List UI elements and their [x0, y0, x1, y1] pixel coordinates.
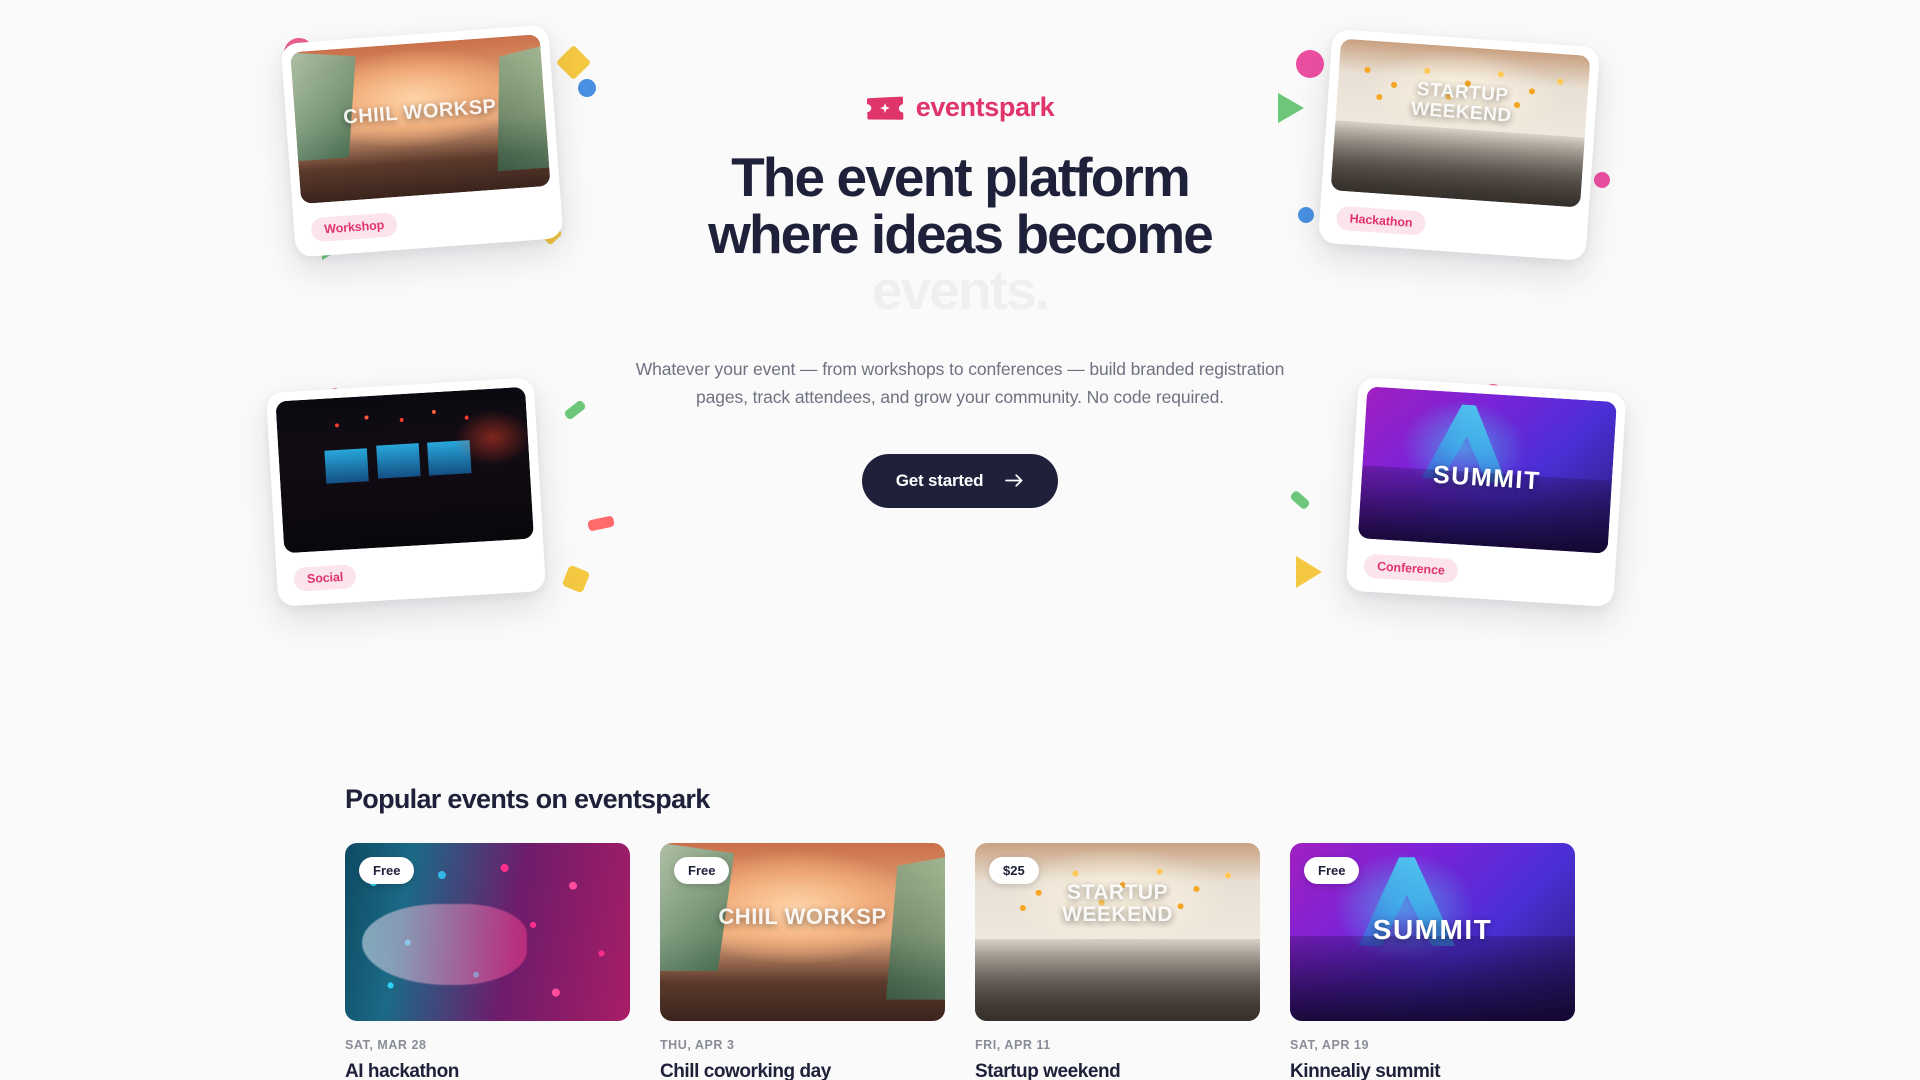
hero-section: CHIIL WORKSP Workshop STARTUP WEEKEND Ha… [0, 0, 1920, 700]
floating-card-workshop[interactable]: CHIIL WORKSP Workshop [281, 24, 564, 257]
event-date: FRI, APR 11 [975, 1038, 1260, 1052]
price-badge: Free [1304, 857, 1359, 884]
floating-card-hackathon[interactable]: STARTUP WEEKEND Hackathon [1318, 29, 1600, 261]
event-title: Kinnealiy summit [1290, 1061, 1575, 1080]
floating-card-thumb [275, 387, 534, 554]
event-grid: Free SAT, MAR 28 AI hackathon Free CHIIL… [345, 843, 1575, 1080]
event-card[interactable]: Free CHIIL WORKSP THU, APR 3 Chill cowor… [660, 843, 945, 1080]
price-badge: Free [674, 857, 729, 884]
event-card[interactable]: Free SUMMIT SAT, APR 19 Kinnealiy summit [1290, 843, 1575, 1080]
popular-events-section: Popular events on eventspark Free SAT, M… [0, 700, 1920, 1080]
event-thumbnail: Free SUMMIT [1290, 843, 1575, 1021]
category-badge: Conference [1363, 553, 1458, 583]
event-thumbnail: Free CHIIL WORKSP [660, 843, 945, 1021]
category-badge: Social [293, 564, 357, 592]
price-badge: $25 [989, 857, 1039, 884]
event-card[interactable]: $25 STARTUP WEEKEND FRI, APR 11 Startup … [975, 843, 1260, 1080]
confetti-rect-yellow-1 [562, 565, 591, 594]
floating-card-thumb: CHIIL WORKSP [290, 34, 550, 204]
confetti-circle-pink-3 [1594, 172, 1610, 188]
event-title: Startup weekend [975, 1061, 1260, 1080]
event-date: THU, APR 3 [660, 1038, 945, 1052]
category-badge: Hackathon [1336, 205, 1426, 235]
floating-card-thumb: SUMMIT [1358, 386, 1617, 553]
floating-card-conference[interactable]: SUMMIT Conference [1346, 377, 1627, 607]
hero-content: eventspark The event platform where idea… [610, 92, 1310, 508]
confetti-rect-green-1 [563, 399, 586, 420]
floating-card-social[interactable]: Social [266, 377, 546, 607]
confetti-rect-red-1 [587, 515, 615, 531]
confetti-circle-blue-1 [578, 79, 596, 97]
photo-caption: SUMMIT [1290, 914, 1575, 946]
headline-line-3: events. [610, 262, 1310, 319]
confetti-diamond-yellow-1 [556, 45, 591, 80]
brand-logo[interactable]: eventspark [610, 92, 1310, 123]
category-badge: Workshop [310, 212, 398, 242]
photo-caption: CHIIL WORKSP [660, 904, 945, 930]
hero-subtitle: Whatever your event — from workshops to … [610, 355, 1310, 412]
event-date: SAT, MAR 28 [345, 1038, 630, 1052]
arrow-right-icon [1005, 473, 1024, 488]
page-title: The event platform where ideas become ev… [610, 149, 1310, 319]
price-badge: Free [359, 857, 414, 884]
confetti-triangle-yellow-1 [1296, 556, 1322, 588]
section-title: Popular events on eventspark [345, 784, 1575, 815]
headline-line-1: The event platform [610, 149, 1310, 206]
event-thumbnail: Free [345, 843, 630, 1021]
get-started-label: Get started [896, 471, 984, 491]
confetti-circle-pink-2 [1296, 50, 1324, 78]
cta-container: Get started [610, 454, 1310, 508]
event-thumbnail: $25 STARTUP WEEKEND [975, 843, 1260, 1021]
event-date: SAT, APR 19 [1290, 1038, 1575, 1052]
event-card[interactable]: Free SAT, MAR 28 AI hackathon [345, 843, 630, 1080]
ticket-icon [866, 95, 904, 121]
event-title: AI hackathon [345, 1061, 630, 1080]
floating-card-thumb: STARTUP WEEKEND [1331, 39, 1591, 208]
brand-name: eventspark [916, 92, 1055, 123]
event-title: Chill coworking day [660, 1061, 945, 1080]
photo-caption: STARTUP WEEKEND [975, 882, 1260, 926]
get-started-button[interactable]: Get started [862, 454, 1059, 508]
headline-line-2: where ideas become [610, 206, 1310, 263]
